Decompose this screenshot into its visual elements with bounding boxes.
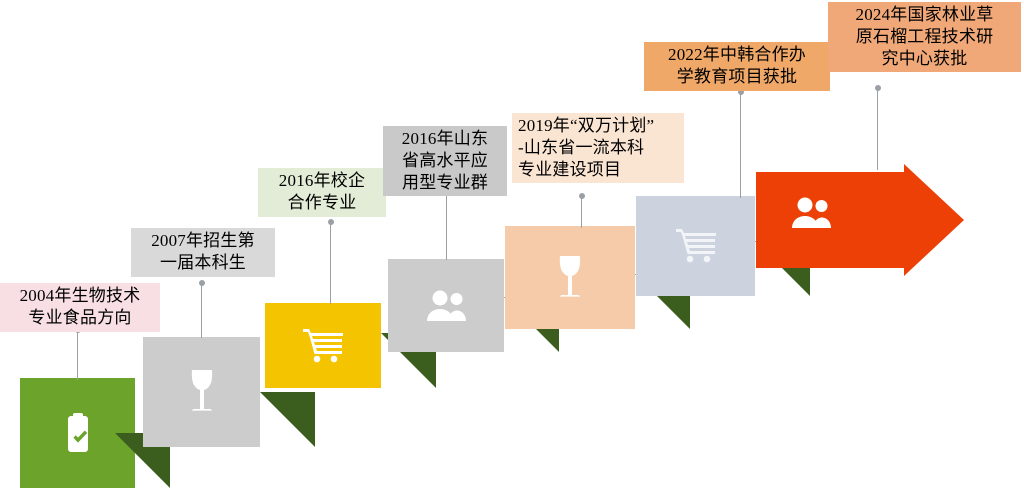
shopping-cart-icon bbox=[265, 303, 381, 388]
caption-2016-b-line1: 2016年山东 bbox=[402, 129, 488, 148]
connector-dot-2024 bbox=[875, 85, 881, 91]
caption-2022: 2022年中韩合作办学教育项目获批 bbox=[644, 42, 830, 91]
milestone-step-2004[interactable] bbox=[20, 378, 135, 488]
connector-2004 bbox=[77, 330, 78, 380]
caption-2004-line2: 专业食品方向 bbox=[28, 308, 131, 327]
milestone-step-2016-a[interactable] bbox=[265, 303, 381, 388]
connector-dot-2016-a bbox=[328, 219, 334, 225]
caption-2019-line2: -山东省一流本科 bbox=[518, 138, 644, 157]
caption-2019-line1: 2019年“双万计划” bbox=[518, 116, 654, 135]
shopping-cart-icon bbox=[636, 196, 755, 296]
caption-2004: 2004年生物技术专业食品方向 bbox=[0, 283, 160, 332]
timeline-diagram: 2004年生物技术专业食品方向 2007年招生第一届本科生 2016年校企合作专… bbox=[0, 0, 1024, 489]
caption-2016-b-line2: 省高水平应 bbox=[402, 151, 488, 170]
caption-2016-a-line1: 2016年校企 bbox=[279, 171, 365, 190]
caption-2022-line1: 2022年中韩合作办 bbox=[668, 45, 806, 64]
caption-2007: 2007年招生第一届本科生 bbox=[131, 228, 275, 277]
connector-2019 bbox=[581, 196, 582, 228]
caption-2019: 2019年“双万计划”-山东省一流本科专业建设项目 bbox=[512, 113, 684, 183]
caption-2016-a-line2: 合作专业 bbox=[288, 193, 357, 212]
caption-2024: 2024年国家林业草原石榴工程技术研究中心获批 bbox=[828, 2, 1021, 72]
users-icon bbox=[388, 259, 504, 352]
connector-2024 bbox=[877, 88, 878, 170]
caption-2016-b-line3: 用型专业群 bbox=[402, 173, 488, 192]
caption-2019-line3: 专业建设项目 bbox=[518, 160, 621, 179]
caption-2022-line2: 学教育项目获批 bbox=[677, 67, 797, 86]
clipboard-check-icon bbox=[20, 378, 135, 488]
caption-2007-line2: 一届本科生 bbox=[160, 253, 246, 272]
caption-2024-line1: 2024年国家林业草 bbox=[856, 5, 994, 24]
connector-2016-a bbox=[330, 222, 331, 304]
caption-2004-line1: 2004年生物技术 bbox=[20, 286, 141, 305]
connector-2016-b bbox=[446, 186, 447, 260]
milestone-step-2007[interactable] bbox=[143, 337, 260, 447]
connector-2007 bbox=[201, 283, 202, 338]
milestone-step-2022[interactable] bbox=[636, 196, 755, 296]
users-icon bbox=[786, 193, 836, 233]
connector-dot-2007 bbox=[199, 280, 205, 286]
step-fold-2007 bbox=[260, 392, 315, 447]
caption-2024-line2: 原石榴工程技术研 bbox=[856, 27, 994, 46]
caption-2016-b: 2016年山东省高水平应用型专业群 bbox=[383, 126, 507, 196]
connector-dot-2019 bbox=[579, 193, 585, 199]
connector-2022 bbox=[740, 92, 741, 198]
caption-2007-line1: 2007年招生第 bbox=[151, 231, 255, 250]
milestone-step-2016-b[interactable] bbox=[388, 259, 504, 352]
caption-2016-a: 2016年校企合作专业 bbox=[258, 168, 386, 217]
caption-2024-line3: 究中心获批 bbox=[882, 49, 968, 68]
wine-glass-icon bbox=[143, 337, 260, 447]
milestone-step-2019[interactable] bbox=[505, 226, 635, 329]
wine-glass-icon bbox=[505, 226, 635, 329]
